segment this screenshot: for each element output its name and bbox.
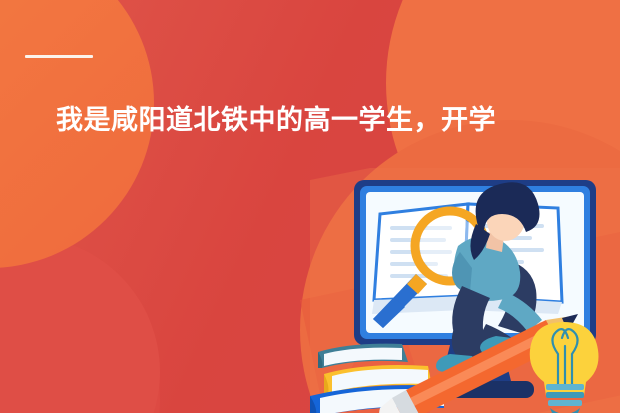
headline-text: 我是咸阳道北铁中的高一学生，开学 <box>56 104 596 138</box>
banner: 我是咸阳道北铁中的高一学生，开学 <box>0 0 620 413</box>
online-learning-illustration <box>310 168 620 413</box>
headline-accent-rule <box>25 55 93 58</box>
